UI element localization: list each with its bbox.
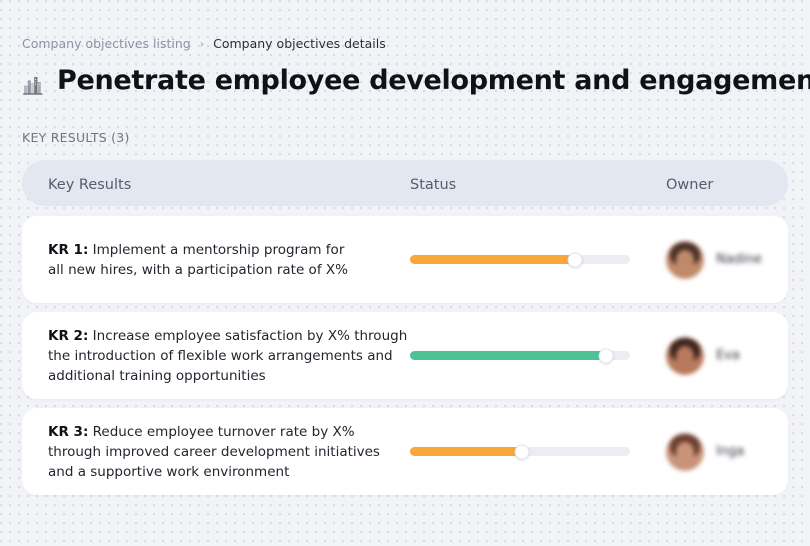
avatar[interactable]: [666, 433, 704, 471]
progress-slider[interactable]: [410, 351, 630, 360]
page-title: Penetrate employee development and engag…: [57, 66, 810, 96]
page-header: Penetrate employee development and engag…: [20, 66, 810, 96]
key-result-label: KR 2:: [48, 328, 88, 344]
owner-cell[interactable]: Eva: [666, 337, 788, 375]
progress-slider[interactable]: [410, 447, 630, 456]
key-result-line: the introduction of flexible work arrang…: [48, 346, 400, 366]
table-row[interactable]: KR 1: Implement a mentorship program for…: [22, 216, 788, 303]
progress-fill: [410, 255, 575, 264]
status-cell: [410, 351, 666, 360]
key-result-text: Implement a mentorship program for: [93, 242, 345, 258]
key-result-line: KR 3: Reduce employee turnover rate by X…: [48, 422, 400, 442]
key-result-label: KR 3:: [48, 424, 88, 440]
key-result-line: through improved career development init…: [48, 442, 400, 462]
progress-slider[interactable]: [410, 255, 630, 264]
key-results-table: Key Results Status Owner KR 1: Implement…: [22, 160, 788, 504]
column-header-status: Status: [410, 174, 666, 193]
avatar[interactable]: [666, 241, 704, 279]
breadcrumb-current-page: Company objectives details: [213, 38, 386, 51]
progress-fill: [410, 447, 522, 456]
key-result-line: and a supportive work environment: [48, 462, 400, 482]
key-result-line: all new hires, with a participation rate…: [48, 260, 400, 280]
table-header-row: Key Results Status Owner: [22, 160, 788, 206]
key-result-line: KR 2: Increase employee satisfaction by …: [48, 326, 400, 346]
column-header-owner: Owner: [666, 174, 788, 193]
breadcrumb-link-listing[interactable]: Company objectives listing: [22, 38, 191, 51]
column-header-key-results: Key Results: [22, 174, 410, 193]
avatar[interactable]: [666, 337, 704, 375]
key-result-cell: KR 1: Implement a mentorship program for…: [22, 240, 410, 280]
key-result-line: KR 1: Implement a mentorship program for: [48, 240, 400, 260]
status-cell: [410, 447, 666, 456]
key-result-label: KR 1:: [48, 242, 88, 258]
key-results-section-label: KEY RESULTS (3): [22, 130, 130, 145]
status-cell: [410, 255, 666, 264]
chevron-right-icon: ›: [200, 38, 204, 49]
key-result-line: additional training opportunities: [48, 366, 400, 386]
owner-cell[interactable]: Nadine: [666, 241, 788, 279]
owner-name: Nadine: [716, 252, 762, 267]
owner-name: Eva: [716, 348, 740, 363]
key-result-text: Reduce employee turnover rate by X%: [93, 424, 355, 440]
owner-cell[interactable]: Inga: [666, 433, 788, 471]
owner-name: Inga: [716, 444, 744, 459]
progress-fill: [410, 351, 606, 360]
breadcrumb: Company objectives listing › Company obj…: [22, 38, 386, 51]
progress-knob[interactable]: [515, 444, 530, 459]
key-result-text: Increase employee satisfaction by X% thr…: [93, 328, 408, 344]
table-row[interactable]: KR 2: Increase employee satisfaction by …: [22, 312, 788, 399]
table-row[interactable]: KR 3: Reduce employee turnover rate by X…: [22, 408, 788, 495]
key-result-cell: KR 2: Increase employee satisfaction by …: [22, 326, 410, 386]
progress-knob[interactable]: [598, 348, 613, 363]
progress-knob[interactable]: [568, 252, 583, 267]
key-result-cell: KR 3: Reduce employee turnover rate by X…: [22, 422, 410, 482]
cityscape-buildings-icon: [20, 70, 46, 96]
